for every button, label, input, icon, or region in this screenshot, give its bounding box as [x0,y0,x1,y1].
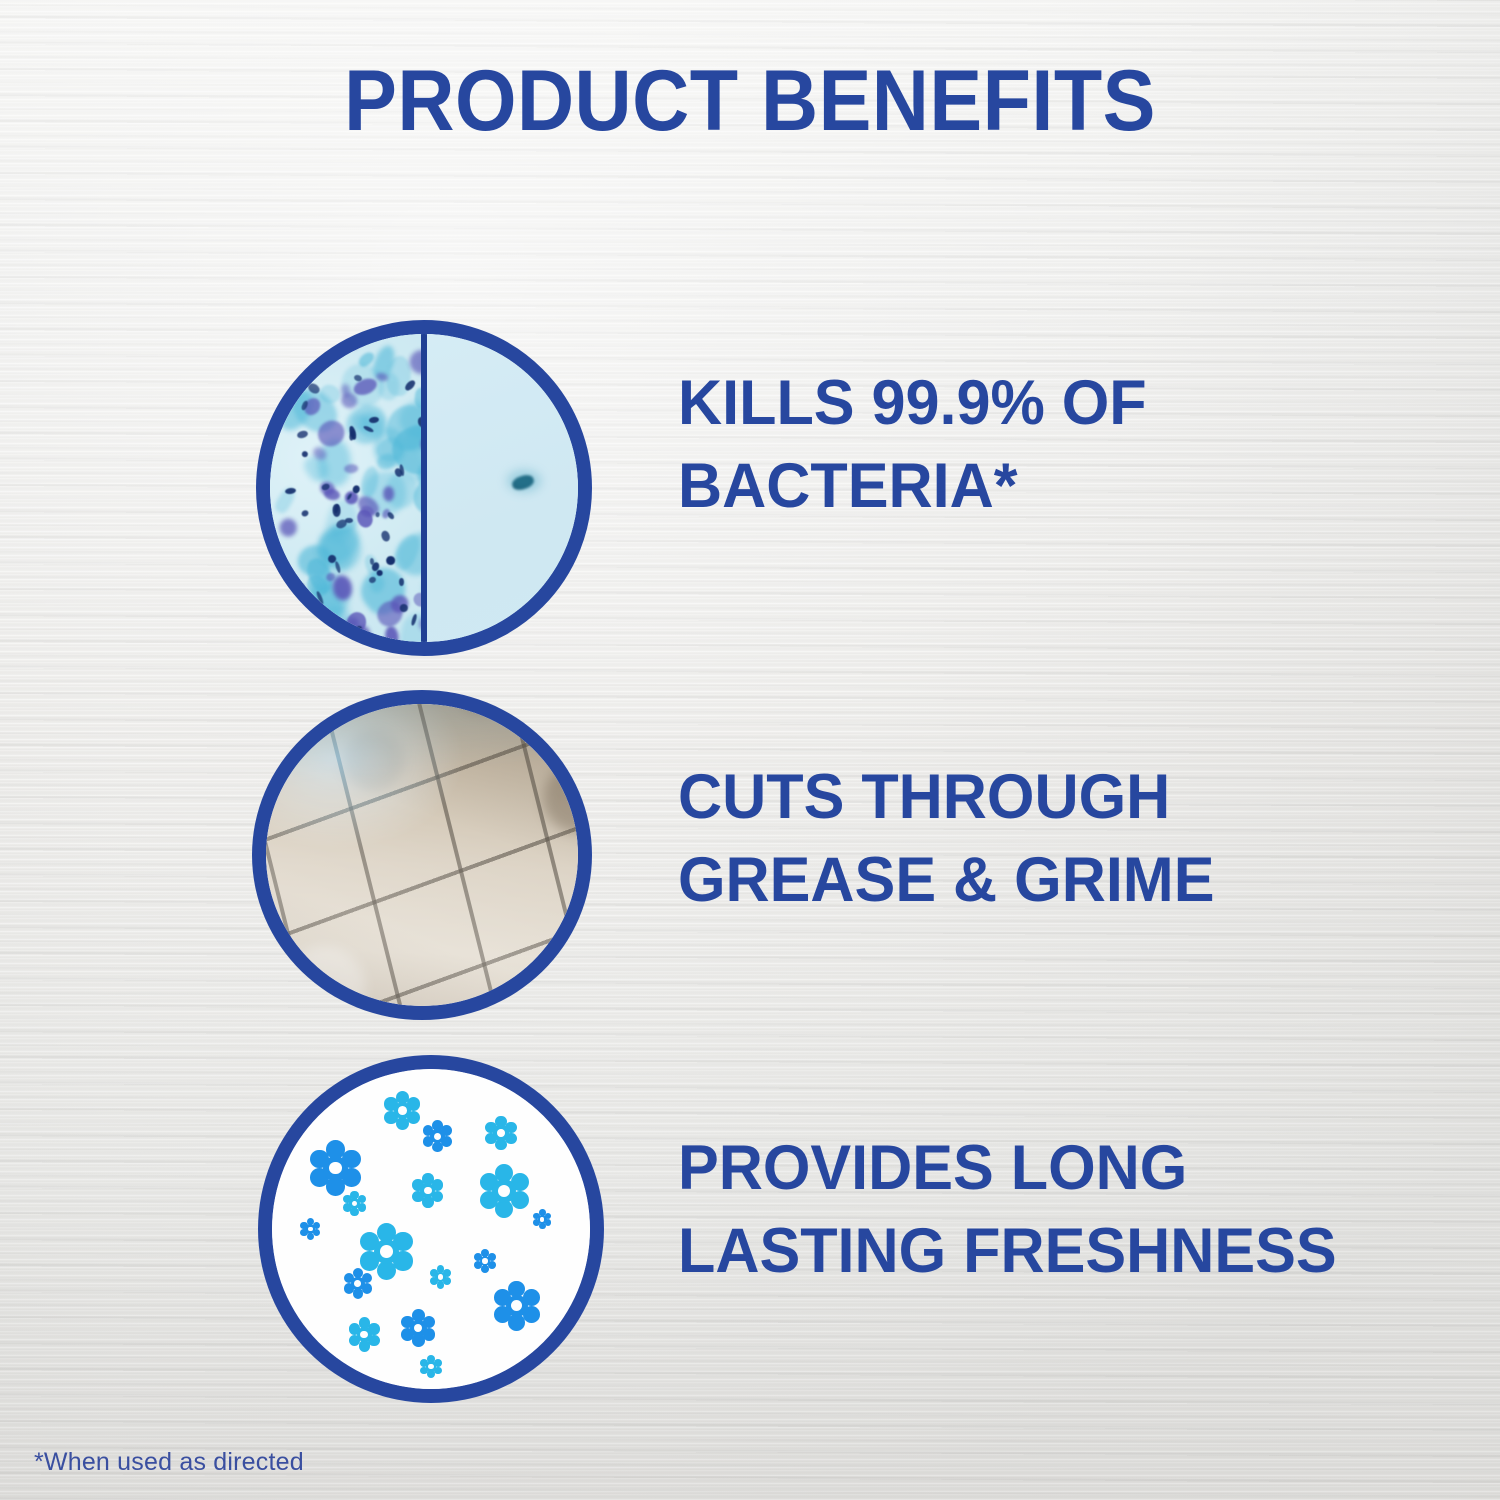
page-title: PRODUCT BENEFITS [60,58,1440,144]
flower-icon [345,1316,383,1354]
flower-icon [409,1172,447,1210]
infographic-canvas: PRODUCT BENEFITS KILLS 99.9% OF BACTERIA… [0,0,1500,1500]
benefit-caption-long-lasting-freshness: PROVIDES LONG LASTING FRESHNESS [678,1127,1444,1293]
benefit-caption-cuts-grease: CUTS THROUGH GREASE & GRIME [678,756,1444,922]
flower-field [272,1069,590,1389]
benefit-row-kills-bacteria: KILLS 99.9% OF BACTERIA* [0,320,1500,660]
flower-icon [380,1089,424,1133]
micrograph-clean-half [424,334,578,642]
flower-icon [489,1278,545,1334]
benefit-row-cuts-grease: CUTS THROUGH GREASE & GRIME [0,690,1500,1020]
tiled-floor-icon [252,690,592,1020]
caption-line-2: LASTING FRESHNESS [678,1210,1444,1293]
caption-line-1: PROVIDES LONG [678,1127,1444,1210]
flower-icon [531,1208,553,1230]
benefit-row-long-lasting-freshness: PROVIDES LONG LASTING FRESHNESS [0,1055,1500,1403]
micrograph-divider [421,334,427,642]
caption-line-1: CUTS THROUGH [678,756,1444,839]
caption-line-1: KILLS 99.9% OF [678,362,1444,445]
flower-icon [341,1189,369,1217]
flower-icon [418,1354,444,1380]
flower-icon [341,1266,375,1300]
footnote-disclaimer: *When used as directed [34,1448,304,1477]
petri-dish-bacteria-comparison-icon [256,320,592,656]
benefit-caption-kills-bacteria: KILLS 99.9% OF BACTERIA* [678,362,1444,528]
tile-shading [266,704,578,1006]
flower-icon [472,1248,498,1274]
flower-icon [419,1118,455,1154]
caption-line-2: BACTERIA* [678,445,1444,528]
flowers-freshness-icon [258,1055,604,1403]
micrograph-dirty-half [270,334,424,642]
flower-icon [298,1217,322,1241]
flower-icon [482,1114,520,1152]
caption-line-2: GREASE & GRIME [678,839,1444,922]
flower-icon [474,1161,534,1221]
flower-icon [428,1264,454,1290]
flower-icon [397,1307,439,1349]
